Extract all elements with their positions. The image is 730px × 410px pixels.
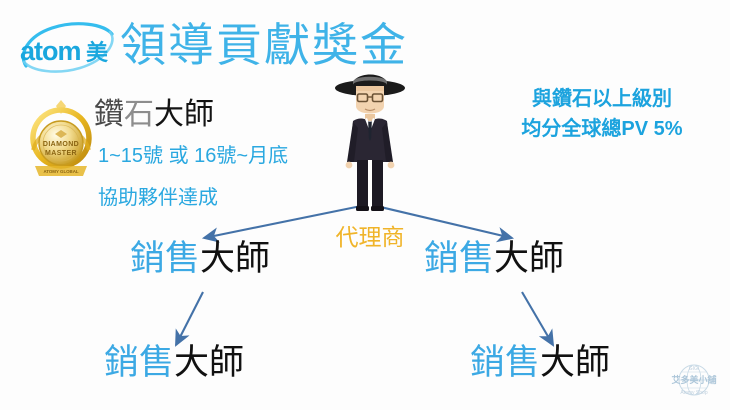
tree-node-right-2: 銷售大師 bbox=[470, 345, 610, 380]
atomy-logo: atom 美 bbox=[14, 16, 122, 78]
tree-node-left-2-dark: 大師 bbox=[174, 343, 244, 382]
tree-node-left-1: 銷售大師 bbox=[130, 241, 270, 276]
right-note-line1: 與鑽石以上級別 bbox=[492, 84, 712, 114]
rank-title-char3: 大師 bbox=[154, 98, 214, 131]
root-node-label: 代理商 bbox=[318, 218, 422, 252]
svg-text:ATOMY GLOBAL: ATOMY GLOBAL bbox=[43, 169, 78, 174]
svg-text:GIGI: GIGI bbox=[689, 366, 700, 372]
tree-node-left-1-dark: 大師 bbox=[200, 239, 270, 278]
tree-node-left-1-blue: 銷售 bbox=[130, 239, 200, 278]
globe-watermark-icon: GIGI 艾多美小舖 Atomy Shop bbox=[666, 358, 722, 406]
rank-title-char1: 鑽 bbox=[94, 98, 124, 131]
condition-text: 協助夥伴達成 bbox=[98, 181, 218, 210]
diamond-master-badge-icon: DIAMOND MASTER ATOMY GLOBAL bbox=[21, 96, 101, 184]
right-note: 與鑽石以上級別 均分全球總PV 5% bbox=[492, 84, 712, 144]
rank-title-char2: 石 bbox=[124, 98, 154, 131]
svg-text:DIAMOND: DIAMOND bbox=[43, 141, 79, 148]
svg-text:Atomy Shop: Atomy Shop bbox=[680, 390, 707, 396]
tree-node-right-1: 銷售大師 bbox=[424, 241, 564, 276]
tree-node-right-1-dark: 大師 bbox=[494, 239, 564, 278]
period-text: 1~15號 或 16號~月底 bbox=[98, 139, 288, 168]
svg-text:atom: atom bbox=[20, 36, 81, 66]
tree-node-right-1-blue: 銷售 bbox=[424, 239, 494, 278]
tree-node-left-2: 銷售大師 bbox=[104, 345, 244, 380]
svg-text:艾多美小舖: 艾多美小舖 bbox=[671, 374, 716, 385]
rank-title: 鑽石大師 bbox=[94, 98, 214, 131]
svg-text:MASTER: MASTER bbox=[45, 150, 77, 157]
tree-node-right-2-blue: 銷售 bbox=[470, 343, 540, 382]
businessman-figure-icon bbox=[315, 62, 425, 217]
svg-text:美: 美 bbox=[86, 40, 109, 65]
slide-canvas: atom 美 領導貢獻獎金 bbox=[0, 0, 730, 410]
tree-node-left-2-blue: 銷售 bbox=[104, 343, 174, 382]
tree-node-right-2-dark: 大師 bbox=[540, 343, 610, 382]
right-note-line2: 均分全球總PV 5% bbox=[492, 114, 712, 144]
